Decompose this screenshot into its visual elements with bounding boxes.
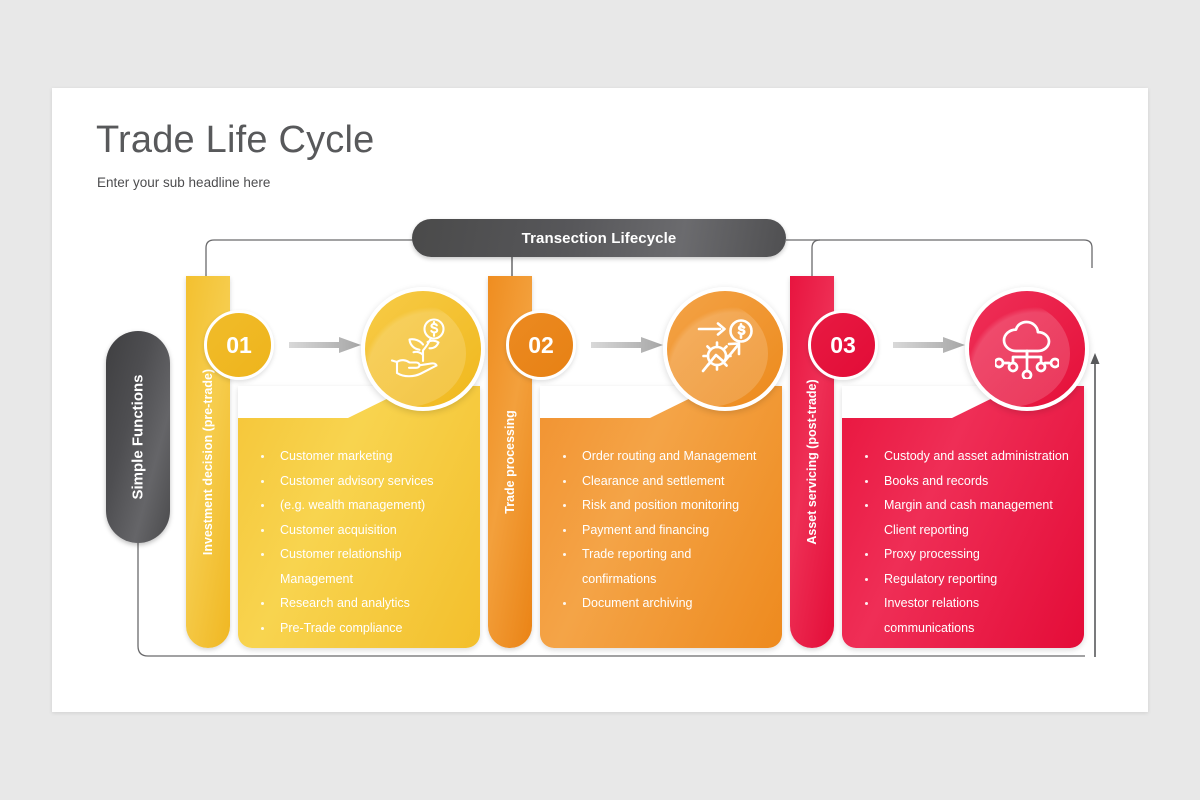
list-item: Proxy processing xyxy=(860,542,1070,567)
slide-canvas: Trade Life Cycle Enter your sub headline… xyxy=(0,0,1200,800)
stage-tab-2-label: Trade processing xyxy=(503,410,517,514)
list-item: Document archiving xyxy=(558,591,768,616)
stage-number-1[interactable]: 01 xyxy=(204,310,274,380)
stage-panel-1: Customer marketing Customer advisory ser… xyxy=(238,386,480,648)
list-item: Management xyxy=(256,567,466,592)
list-item: Customer acquisition xyxy=(256,518,466,543)
list-item: communications xyxy=(860,616,1070,641)
stage-number-3-label: 03 xyxy=(830,332,856,359)
stage-tab-1-label: Investment decision (pre-trade) xyxy=(201,369,215,555)
list-item: Payment and financing xyxy=(558,518,768,543)
stage-icon-2 xyxy=(663,287,787,411)
arrow-1-icon xyxy=(289,337,361,353)
stage-icon-1 xyxy=(361,287,485,411)
list-item: Customer marketing xyxy=(256,444,466,469)
list-item: Customer advisory services xyxy=(256,469,466,494)
simple-functions-label: Simple Functions xyxy=(130,374,147,499)
stage-panel-3: Custody and asset administration Books a… xyxy=(842,386,1084,648)
list-item: Clearance and settlement xyxy=(558,469,768,494)
stage-number-1-label: 01 xyxy=(226,332,252,359)
list-item: Customer relationship xyxy=(256,542,466,567)
list-item: Margin and cash management xyxy=(860,493,1070,518)
hand-plant-dollar-icon xyxy=(390,316,456,382)
banner-label: Transection Lifecycle xyxy=(522,230,677,247)
list-item: Pre-Trade compliance xyxy=(256,616,466,641)
list-item: Investor relations xyxy=(860,591,1070,616)
banner-transaction-lifecycle[interactable]: Transection Lifecycle xyxy=(412,219,786,257)
stage-tab-3-label: Asset servicing (post-trade) xyxy=(805,379,819,544)
list-item: Books and records xyxy=(860,469,1070,494)
list-item: confirmations xyxy=(558,567,768,592)
list-item: Custody and asset administration xyxy=(860,444,1070,469)
gear-trend-dollar-icon xyxy=(693,317,757,381)
arrow-2-icon xyxy=(591,337,663,353)
stage-list-3: Custody and asset administration Books a… xyxy=(842,444,1084,640)
stage-list-2: Order routing and Management Clearance a… xyxy=(540,444,782,616)
list-item: Client reporting xyxy=(860,518,1070,543)
arrow-3-icon xyxy=(893,337,965,353)
list-item: Research and analytics xyxy=(256,591,466,616)
list-item: (e.g. wealth management) xyxy=(256,493,466,518)
stage-number-3[interactable]: 03 xyxy=(808,310,878,380)
stage-number-2[interactable]: 02 xyxy=(506,310,576,380)
simple-functions-pill[interactable]: Simple Functions xyxy=(106,331,170,543)
list-item: Trade reporting and xyxy=(558,542,768,567)
stage-number-2-label: 02 xyxy=(528,332,554,359)
stage-icon-3 xyxy=(965,287,1089,411)
stage-panel-2: Order routing and Management Clearance a… xyxy=(540,386,782,648)
stage-list-1: Customer marketing Customer advisory ser… xyxy=(238,444,480,640)
list-item: Regulatory reporting xyxy=(860,567,1070,592)
list-item: Order routing and Management xyxy=(558,444,768,469)
list-item: Risk and position monitoring xyxy=(558,493,768,518)
cloud-network-icon xyxy=(995,319,1059,379)
page-subtitle: Enter your sub headline here xyxy=(97,175,270,190)
page-title: Trade Life Cycle xyxy=(96,119,374,162)
